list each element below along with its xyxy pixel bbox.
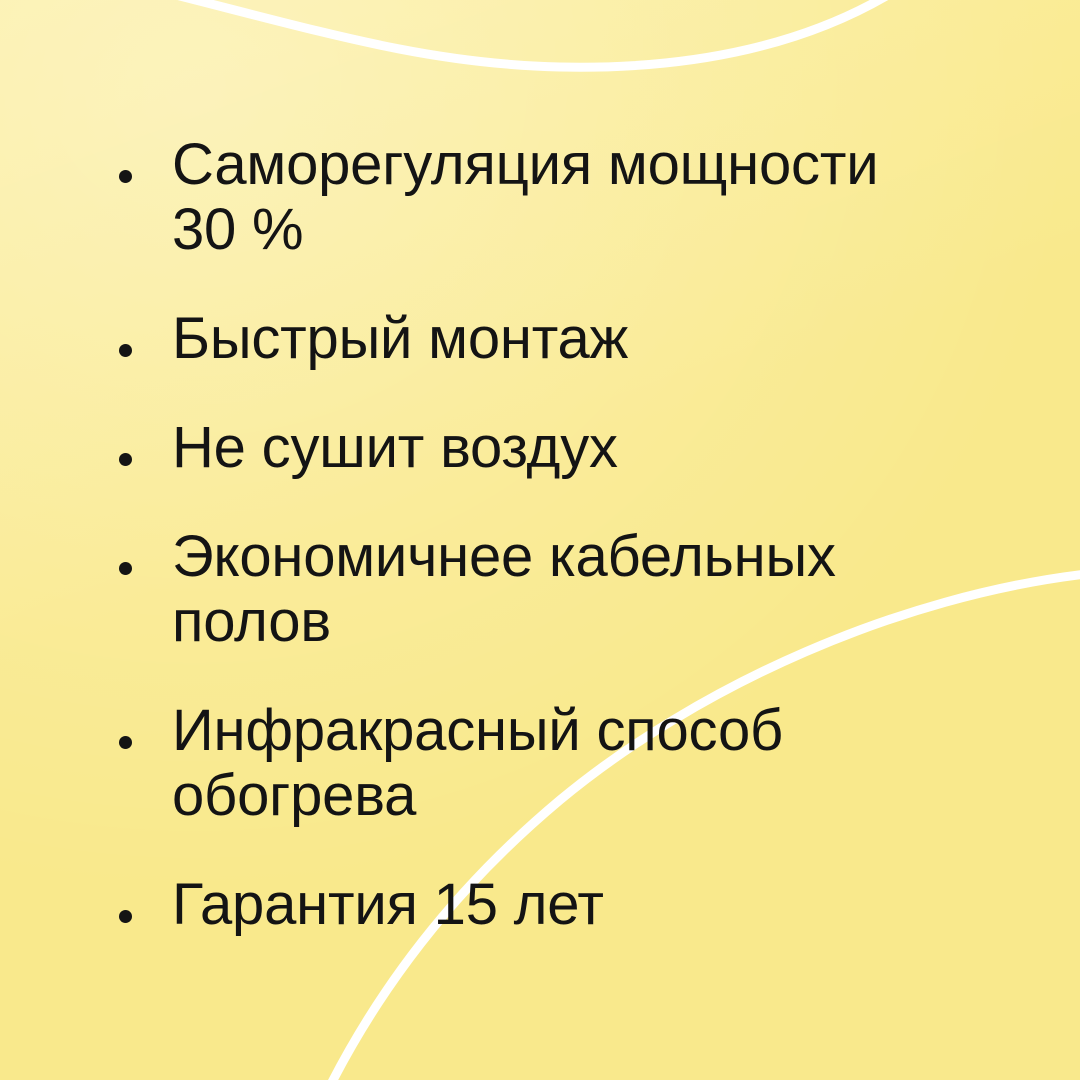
bullet-dot-icon	[119, 170, 132, 183]
list-item-label: Инфракрасный способ обогрева	[172, 698, 972, 828]
list-item: Экономичнее кабельных полов	[112, 524, 972, 654]
list-item: Инфракрасный способ обогрева	[112, 698, 972, 828]
promo-slide: Саморегуляция мощности 30 % Быстрый монт…	[0, 0, 1080, 1080]
list-item: Быстрый монтаж	[112, 306, 972, 371]
bullet-dot-icon	[119, 562, 132, 575]
list-item-label: Быстрый монтаж	[172, 306, 972, 371]
bullet-dot-icon	[119, 736, 132, 749]
bullet-dot-icon	[119, 910, 132, 923]
slide-content: Саморегуляция мощности 30 % Быстрый монт…	[0, 0, 1080, 1080]
list-item-label: Экономичнее кабельных полов	[172, 524, 972, 654]
list-item-label: Не сушит воздух	[172, 415, 972, 480]
list-item: Гарантия 15 лет	[112, 872, 972, 937]
feature-bullet-list: Саморегуляция мощности 30 % Быстрый монт…	[112, 132, 992, 937]
list-item-label: Гарантия 15 лет	[172, 872, 972, 937]
list-item: Саморегуляция мощности 30 %	[112, 132, 972, 262]
list-item-label: Саморегуляция мощности 30 %	[172, 132, 972, 262]
list-item: Не сушит воздух	[112, 415, 972, 480]
bullet-dot-icon	[119, 344, 132, 357]
bullet-dot-icon	[119, 453, 132, 466]
